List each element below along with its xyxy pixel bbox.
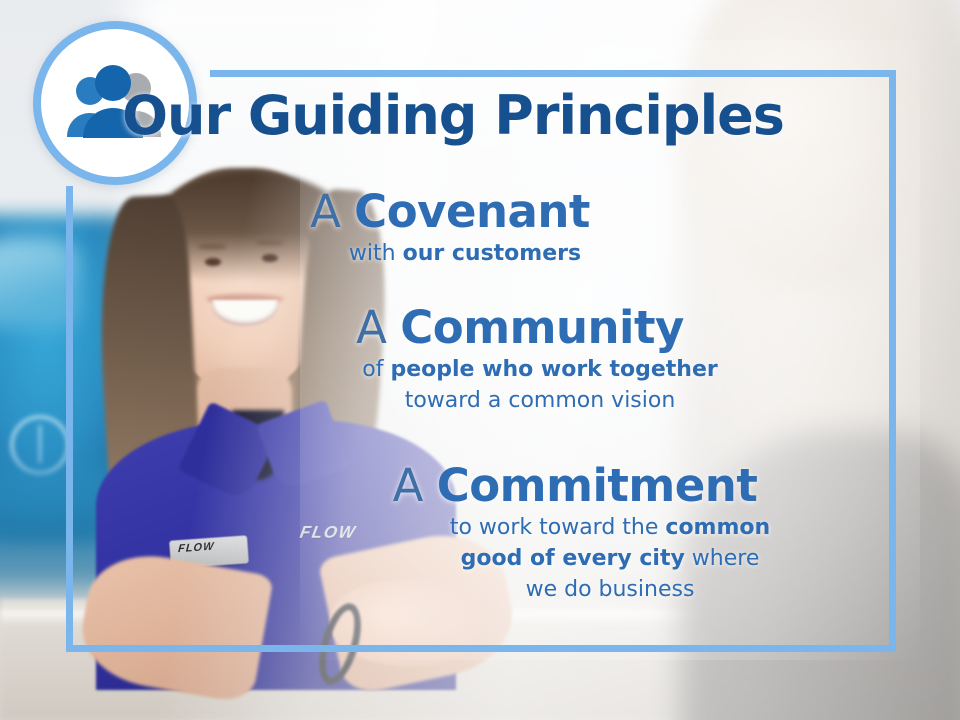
principle-subtext-line: of people who work together xyxy=(240,354,840,385)
principle-subtext: to work toward the commongood of every c… xyxy=(250,512,900,605)
principle-heading: A Community xyxy=(200,302,840,354)
principle-subtext: with our customers xyxy=(150,238,750,269)
banner-graphic: FLOW FLOW Our Guiding Pri xyxy=(0,0,960,720)
principle-heading: A Covenant xyxy=(150,186,750,238)
frame-border-bottom xyxy=(66,645,896,652)
frame-border-left xyxy=(66,186,73,652)
principle-subtext-line: to work toward the common xyxy=(320,512,900,543)
principle-subtext-line: we do business xyxy=(320,574,900,605)
principle-subtext-line: toward a common vision xyxy=(240,385,840,416)
principle-keyword: Commitment xyxy=(437,459,758,512)
frame-border-top xyxy=(210,70,896,77)
page-title: Our Guiding Principles xyxy=(0,86,906,146)
principle-subtext-line: with our customers xyxy=(180,238,750,269)
principle-keyword: Community xyxy=(400,301,684,354)
principle-article: A xyxy=(393,459,437,512)
principle-block-commitment: A Commitment to work toward the commongo… xyxy=(250,460,900,605)
principle-block-covenant: A Covenant with our customers xyxy=(150,186,750,269)
principle-block-community: A Community of people who work togethert… xyxy=(200,302,840,416)
principle-article: A xyxy=(310,185,354,238)
principle-subtext: of people who work togethertoward a comm… xyxy=(200,354,840,416)
principle-article: A xyxy=(356,301,400,354)
principle-subtext-line: good of every city where xyxy=(320,543,900,574)
principle-heading: A Commitment xyxy=(250,460,900,512)
principle-keyword: Covenant xyxy=(354,185,590,238)
